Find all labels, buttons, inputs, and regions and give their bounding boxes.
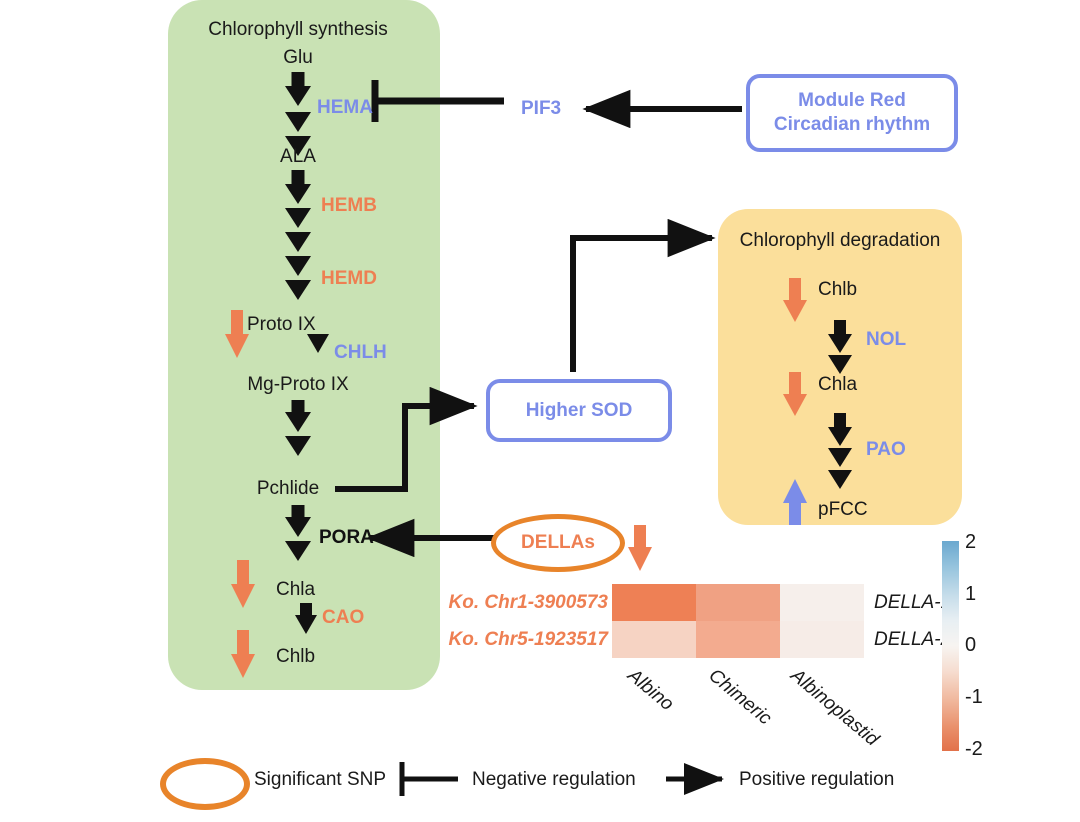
metabolite-mg-proto-ix: Mg-Proto IX [247,375,348,394]
degradation-panel-title: Chlorophyll degradation [740,231,941,250]
metabolite-pchlide: Pchlide [257,479,319,498]
legend-negative-symbol [402,762,458,796]
heatmap-cell[interactable] [612,584,696,621]
colorbar-tick-1: 1 [965,583,976,606]
metabolite-chla-synthesis: Chla [276,580,315,599]
heatmap-row-label-1: Ko. Chr1-3900573 [424,592,608,614]
higher-sod-label: Higher SOD [526,399,633,423]
metabolite-chlb-synthesis: Chlb [276,647,315,666]
legend-snp-ellipse-icon [160,758,250,810]
heatmap-cell[interactable] [696,621,780,658]
node-dellas-snp[interactable]: DELLAs [491,514,625,572]
pathway-figure: Chlorophyll synthesis Glu ALA Proto IX M… [0,0,1080,822]
enzyme-hemb: HEMB [321,196,377,215]
chlorophyll-degradation-panel [718,209,962,525]
enzyme-cao: CAO [322,608,364,627]
enzyme-pao: PAO [866,440,906,459]
heatmap-colorbar [942,541,959,751]
module-red-line2: Circadian rhythm [774,113,930,137]
heatmap-grid [612,584,864,658]
downregulation-marker-dellas [628,525,652,571]
heatmap-column-label-chimeric: Chimeric [704,665,776,730]
colorbar-tick-neg1: -1 [965,686,983,709]
heatmap-column-label-albino: Albino [623,665,678,716]
legend-positive-regulation-label: Positive regulation [739,769,894,791]
enzyme-nol: NOL [866,330,906,349]
heatmap-gene-label-2: DELLA-2 [874,629,951,651]
enzyme-hema: HEMA [317,98,373,117]
colorbar-tick-0: 0 [965,634,976,657]
metabolite-chlb-degradation: Chlb [818,280,857,299]
legend-negative-regulation-label: Negative regulation [472,769,636,791]
sod-to-degradation-arrow [573,238,712,372]
metabolite-pfcc: pFCC [818,500,868,519]
heatmap-cell[interactable] [780,621,864,658]
heatmap-gene-label-1: DELLA-1 [874,592,951,614]
node-higher-sod[interactable]: Higher SOD [486,379,672,442]
heatmap-cell[interactable] [612,621,696,658]
module-red-line1: Module Red [774,89,930,113]
node-module-red-circadian[interactable]: Module Red Circadian rhythm [746,74,958,152]
heatmap-cell[interactable] [780,584,864,621]
legend-significant-snp-label: Significant SNP [254,769,386,791]
node-pif3[interactable]: PIF3 [521,99,561,118]
heatmap-cell[interactable] [696,584,780,621]
metabolite-ala: ALA [280,147,316,166]
enzyme-hemd: HEMD [321,269,377,288]
enzyme-chlh: CHLH [334,343,387,362]
colorbar-tick-neg2: -2 [965,738,983,761]
colorbar-tick-2: 2 [965,531,976,554]
heatmap-row-label-2: Ko. Chr5-1923517 [424,629,608,651]
metabolite-glu: Glu [283,48,313,67]
enzyme-pora: PORA [319,528,374,547]
metabolite-chla-degradation: Chla [818,375,857,394]
synthesis-panel-title: Chlorophyll synthesis [208,20,388,39]
dellas-label: DELLAs [521,532,595,554]
metabolite-proto-ix: Proto IX [247,315,316,334]
heatmap-column-label-albinoplastid: Albinoplastid [786,665,883,751]
